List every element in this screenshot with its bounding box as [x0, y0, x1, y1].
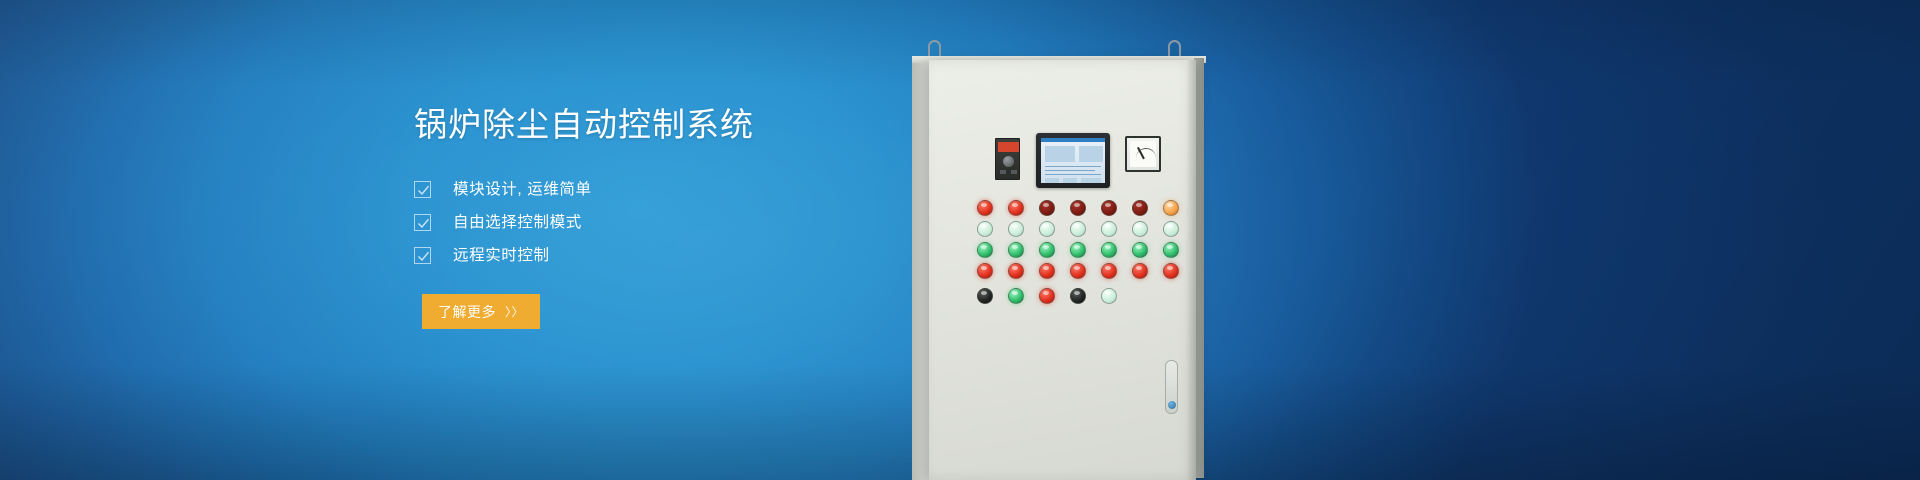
list-item: 自由选择控制模式	[414, 206, 974, 239]
indicator-lamp	[1163, 242, 1179, 258]
list-item: 远程实时控制	[414, 239, 974, 272]
indicator-lamp	[1039, 221, 1055, 237]
indicator-lamp	[977, 263, 993, 279]
indicator-lamp	[977, 242, 993, 258]
meter-dial	[1130, 141, 1156, 167]
indicator-lamp	[1101, 221, 1117, 237]
indicator-lamp	[1039, 200, 1055, 216]
indicator-lamp	[1039, 288, 1055, 304]
indicator-lamp	[1070, 221, 1086, 237]
lamp-row	[969, 263, 1189, 279]
indicator-lamp	[1101, 242, 1117, 258]
hmi-line	[1045, 170, 1095, 171]
feature-label: 模块设计, 运维简单	[453, 181, 592, 198]
indicator-lamp	[1132, 263, 1148, 279]
banner-copy: 锅炉除尘自动控制系统 模块设计, 运维简单 自由选择控制模式	[414, 104, 974, 329]
hmi-widget	[1045, 146, 1075, 162]
hmi-screen	[1041, 138, 1105, 183]
indicator-lamp	[1039, 263, 1055, 279]
selector-switch	[1070, 288, 1086, 304]
indicator-lamp	[1008, 221, 1024, 237]
indicator-lamp	[1008, 200, 1024, 216]
page-title: 锅炉除尘自动控制系统	[414, 104, 974, 146]
indicator-lamp	[1163, 200, 1179, 216]
lamp-row	[969, 288, 1189, 304]
indicator-lamp-grid	[969, 200, 1189, 309]
checkbox-check-icon	[414, 247, 431, 264]
indicator-lamp	[1101, 288, 1117, 304]
feature-label: 远程实时控制	[453, 247, 550, 264]
indicator-lamp	[1008, 242, 1024, 258]
cabinet-door-handle	[1165, 360, 1178, 414]
door-lock-icon	[1168, 401, 1176, 409]
indicator-lamp	[1070, 242, 1086, 258]
lamp-row	[969, 242, 1189, 258]
indicator-lamp	[1101, 263, 1117, 279]
hmi-widget	[1079, 146, 1103, 162]
checkbox-check-icon	[414, 181, 431, 198]
vfd-button	[1011, 170, 1017, 174]
indicator-lamp	[1039, 242, 1055, 258]
learn-more-label: 了解更多	[438, 302, 496, 322]
lamp-row	[969, 200, 1189, 216]
chevron-right-icon: 〉〉	[505, 306, 524, 318]
analog-meter	[1125, 136, 1161, 172]
indicator-lamp	[1008, 263, 1024, 279]
indicator-lamp	[1101, 200, 1117, 216]
indicator-lamp	[1070, 263, 1086, 279]
hmi-title-bar	[1041, 138, 1105, 142]
vfd-controller	[995, 138, 1020, 180]
indicator-lamp	[1132, 221, 1148, 237]
vfd-knob-icon	[1003, 156, 1014, 167]
indicator-lamp	[1132, 200, 1148, 216]
indicator-lamp	[1163, 263, 1179, 279]
selector-switch	[977, 288, 993, 304]
checkbox-check-icon	[414, 214, 431, 231]
feature-list: 模块设计, 运维简单 自由选择控制模式 远程实时控制	[414, 173, 974, 272]
indicator-lamp	[977, 200, 993, 216]
hmi-line	[1045, 174, 1101, 175]
vfd-display	[998, 142, 1019, 152]
hero-banner: 锅炉除尘自动控制系统 模块设计, 运维简单 自由选择控制模式	[0, 0, 1920, 480]
hmi-widget	[1081, 178, 1101, 183]
indicator-lamp	[1132, 242, 1148, 258]
indicator-lamp	[1070, 200, 1086, 216]
feature-label: 自由选择控制模式	[453, 214, 582, 231]
indicator-lamp	[1008, 288, 1024, 304]
learn-more-button[interactable]: 了解更多 〉〉	[422, 294, 540, 329]
hmi-widget	[1063, 178, 1077, 183]
lamp-row	[969, 221, 1189, 237]
vfd-button	[1000, 170, 1006, 174]
hmi-widget	[1045, 178, 1059, 183]
list-item: 模块设计, 运维简单	[414, 173, 974, 206]
indicator-lamp	[1163, 221, 1179, 237]
hmi-touchscreen	[1036, 133, 1110, 188]
hmi-line	[1045, 166, 1101, 167]
indicator-lamp	[977, 221, 993, 237]
